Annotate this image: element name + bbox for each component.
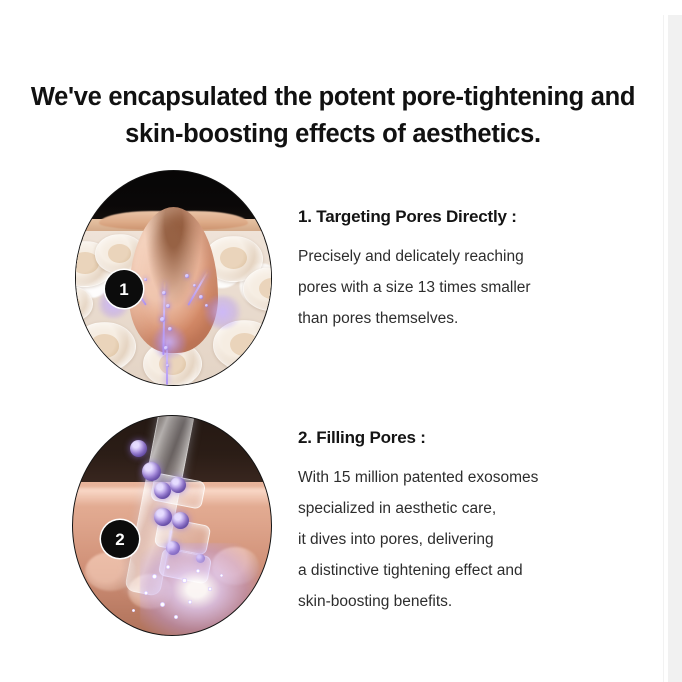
image1-particle <box>199 295 203 299</box>
circular-image-frame-1 <box>75 170 272 386</box>
image1-particle <box>185 274 189 278</box>
image1-cell <box>75 286 93 322</box>
content-divider <box>663 15 664 682</box>
feature-body-1-line: than pores themselves. <box>298 303 638 334</box>
image1-particle <box>160 317 165 322</box>
feature-text-1: 1. Targeting Pores Directly : Precisely … <box>298 206 638 334</box>
image2-exosome <box>154 482 171 499</box>
image1-particle <box>166 364 169 367</box>
page-title-line-1: We've encapsulated the potent pore-tight… <box>31 83 635 111</box>
exosome-delivery-illustration: 2 <box>72 415 272 636</box>
image1-glow <box>201 295 244 329</box>
feature-body-2-line: With 15 million patented exosomes <box>298 462 638 493</box>
image2-spark <box>166 565 170 569</box>
feature-body-2-line: specialized in aesthetic care, <box>298 493 638 524</box>
image1-particle <box>205 304 208 307</box>
feature-body-2-line: a distinctive tightening effect and <box>298 555 638 586</box>
image2-spark <box>152 574 157 579</box>
image2-spark <box>220 574 223 577</box>
feature-body-1: Precisely and delicately reaching pores … <box>298 241 638 334</box>
feature-title-2: 2. Filling Pores : <box>298 427 638 448</box>
step-badge-2: 2 <box>101 520 139 558</box>
vertical-scrollbar[interactable] <box>668 15 682 682</box>
image2-spark <box>208 587 212 591</box>
circular-image-frame-2 <box>72 415 272 636</box>
feature-text-2: 2. Filling Pores : With 15 million paten… <box>298 427 638 617</box>
feature-body-2-line: it dives into pores, delivering <box>298 524 638 555</box>
feature-row-2: 2 2. Filling Pores : With 15 million pat… <box>0 415 663 636</box>
feature-body-2: With 15 million patented exosomes specia… <box>298 462 638 617</box>
feature-body-1-line: Precisely and delicately reaching <box>298 241 638 272</box>
page-title-line-2: skin-boosting effects of aesthetics. <box>18 116 648 153</box>
content-page: We've encapsulated the potent pore-tight… <box>0 0 663 682</box>
image1-particle <box>168 327 172 331</box>
image1-particle <box>162 291 166 295</box>
feature-row-1: 1 1. Targeting Pores Directly : Precisel… <box>0 170 663 386</box>
image2-spark <box>182 578 187 583</box>
feature-title-1: 1. Targeting Pores Directly : <box>298 206 638 227</box>
feature-body-2-line: skin-boosting benefits. <box>298 586 638 617</box>
image1-cell <box>75 322 136 371</box>
image2-particle-burst <box>140 543 263 636</box>
image2-spark <box>188 600 192 604</box>
pore-closeup-illustration: 1 <box>75 170 272 386</box>
step-badge-1: 1 <box>105 270 143 308</box>
feature-body-1-line: pores with a size 13 times smaller <box>298 272 638 303</box>
page-title: We've encapsulated the potent pore-tight… <box>18 79 648 153</box>
image1-particle <box>166 304 170 308</box>
